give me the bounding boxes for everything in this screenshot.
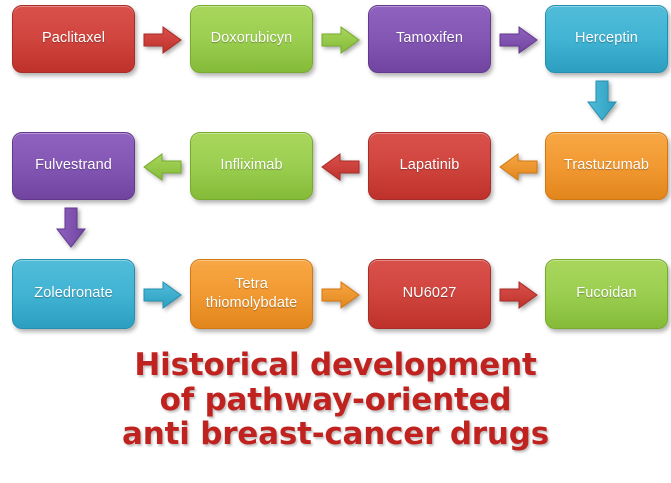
node-trastuzumab[interactable]: Trastuzumab (545, 132, 668, 200)
diagram-title: Historical development of pathway-orient… (0, 348, 671, 452)
arrow-right-nu6027-to-fucoidan (499, 280, 539, 310)
node-herceptin[interactable]: Herceptin (545, 5, 668, 73)
node-label: Doxorubicyn (197, 29, 306, 48)
arrow-right-tetra-thiomolybdate-to-nu6027 (321, 280, 361, 310)
node-lapatinib[interactable]: Lapatinib (368, 132, 491, 200)
arrow-down-fulvestrand-to-zoledronate (55, 207, 87, 249)
node-label: Paclitaxel (19, 29, 128, 48)
node-label: Herceptin (552, 29, 661, 48)
node-label: Infliximab (197, 156, 306, 175)
node-zoledronate[interactable]: Zoledronate (12, 259, 135, 329)
node-nu6027[interactable]: NU6027 (368, 259, 491, 329)
arrow-left-infliximab-to-fulvestrand (143, 152, 183, 182)
arrow-left-trastuzumab-to-lapatinib (499, 152, 539, 182)
arrow-right-zoledronate-to-tetra-thiomolybdate (143, 280, 183, 310)
node-label: Fucoidan (552, 284, 661, 303)
node-doxorubicyn[interactable]: Doxorubicyn (190, 5, 313, 73)
node-label: NU6027 (375, 284, 484, 303)
node-tamoxifen[interactable]: Tamoxifen (368, 5, 491, 73)
node-fucoidan[interactable]: Fucoidan (545, 259, 668, 329)
node-fulvestrand[interactable]: Fulvestrand (12, 132, 135, 200)
node-infliximab[interactable]: Infliximab (190, 132, 313, 200)
node-label: Tamoxifen (375, 29, 484, 48)
node-paclitaxel[interactable]: Paclitaxel (12, 5, 135, 73)
diagram-canvas: Paclitaxel Doxorubicyn Tamoxifen (0, 0, 671, 483)
title-line-1: Historical development (0, 348, 671, 383)
node-label: Tetra thiomolybdate (197, 275, 306, 313)
arrow-right-paclitaxel-to-doxorubicyn (143, 25, 183, 55)
arrow-right-tamoxifen-to-herceptin (499, 25, 539, 55)
arrow-down-herceptin-to-trastuzumab (586, 80, 618, 122)
arrow-right-doxorubicyn-to-tamoxifen (321, 25, 361, 55)
node-label: Zoledronate (19, 284, 128, 303)
title-line-3: anti breast-cancer drugs (0, 417, 671, 452)
node-label: Trastuzumab (552, 156, 661, 175)
arrow-left-lapatinib-to-infliximab (321, 152, 361, 182)
title-line-2: of pathway-oriented (0, 383, 671, 418)
node-tetra-thiomolybdate[interactable]: Tetra thiomolybdate (190, 259, 313, 329)
node-label: Lapatinib (375, 156, 484, 175)
node-label: Fulvestrand (19, 156, 128, 175)
